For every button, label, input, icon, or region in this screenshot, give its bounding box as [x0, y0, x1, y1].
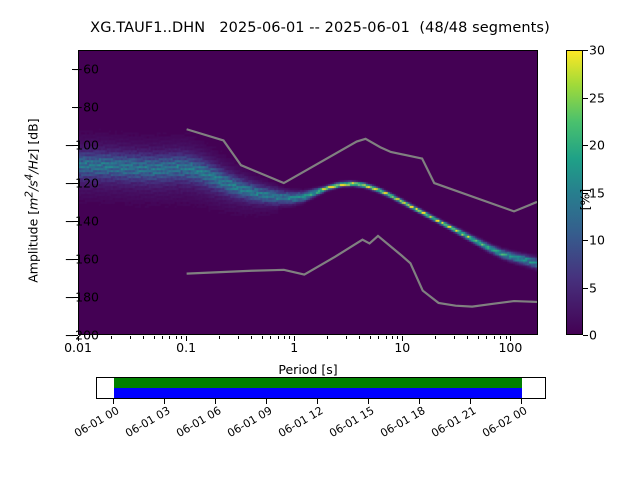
timeline-tick-label: 06-01 15: [327, 404, 376, 440]
timeline-tick-label: 06-01 00: [72, 404, 121, 440]
y-tick-label: −80: [73, 100, 99, 115]
colorbar-tick-label: 30: [589, 43, 605, 58]
colorbar-tick-label: 5: [589, 280, 597, 295]
nlnm-curve: [187, 236, 537, 307]
x-tick-label: 100: [498, 340, 522, 355]
timeline-data-bar: [114, 378, 522, 388]
timeline-tick-label: 06-01 06: [174, 404, 223, 440]
timeline-tick-label: 06-01 09: [225, 404, 274, 440]
coverage-timeline: [96, 377, 546, 399]
timeline-tick-label: 06-01 21: [429, 404, 478, 440]
x-tick-label: 10: [394, 340, 410, 355]
x-tick-label: 0.1: [176, 340, 196, 355]
y-tick-label: −160: [65, 252, 99, 267]
y-axis-label: Amplitude [m2/s4/Hz] [dB]: [23, 51, 40, 351]
colorbar-label: [%]: [578, 140, 593, 260]
timeline-tick-label: 06-01 18: [378, 404, 427, 440]
timeline-tick-label: 06-02 00: [480, 404, 529, 440]
timeline-tick-label: 06-01 03: [123, 404, 172, 440]
y-tick-label: −180: [65, 290, 99, 305]
colorbar-tick-label: 0: [589, 328, 597, 343]
y-tick-label: −140: [65, 214, 99, 229]
x-axis-label: Period [s]: [78, 362, 538, 377]
colorbar-tick-label: 25: [589, 90, 605, 105]
nhnm-curve: [187, 129, 537, 211]
x-tick-label: 0.01: [64, 340, 92, 355]
page-title: XG.TAUF1..DHN 2025-06-01 -- 2025-06-01 (…: [0, 20, 640, 36]
ppsd-figure: XG.TAUF1..DHN 2025-06-01 -- 2025-06-01 (…: [0, 0, 640, 480]
noise-model-curves: [79, 51, 537, 334]
timeline-tick-label: 06-01 12: [276, 404, 325, 440]
ppsd-plot-area: [78, 50, 538, 335]
y-tick-label: −100: [65, 138, 99, 153]
x-tick-label: 1: [290, 340, 298, 355]
timeline-coverage-bar: [114, 388, 522, 398]
y-tick-label: −120: [65, 176, 99, 191]
y-tick-label: −60: [73, 62, 99, 77]
